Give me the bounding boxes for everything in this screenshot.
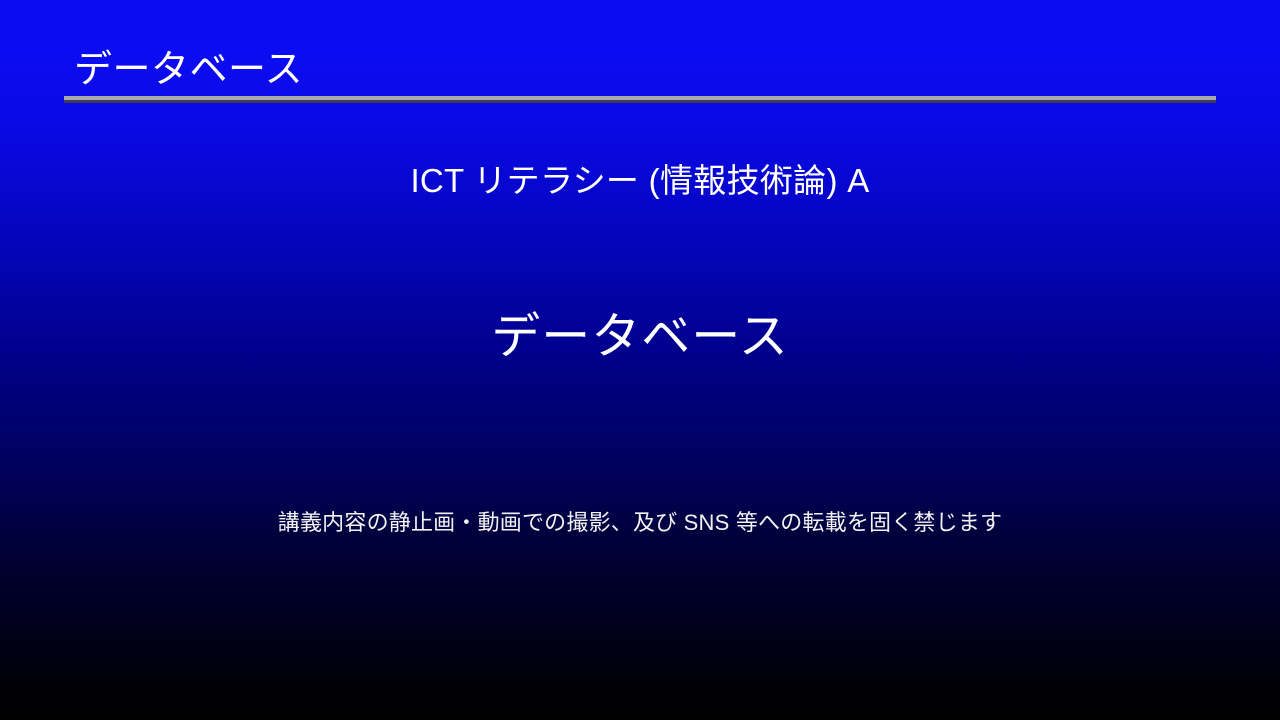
presentation-slide: データベース ICT リテラシー (情報技術論) A データベース 講義内容の静… [0, 0, 1280, 720]
slide-main-heading: データベース [0, 307, 1280, 367]
course-title: ICT リテラシー (情報技術論) A [0, 160, 1280, 202]
page-title: データベース [74, 48, 303, 92]
header-divider [64, 96, 1216, 103]
recording-prohibition-notice: 講義内容の静止画・動画での撮影、及び SNS 等への転載を固く禁じます [0, 507, 1280, 539]
slide-header: データベース [0, 0, 1280, 110]
slide-body: ICT リテラシー (情報技術論) A データベース 講義内容の静止画・動画での… [0, 110, 1280, 720]
header-divider-shadow [64, 100, 1216, 103]
